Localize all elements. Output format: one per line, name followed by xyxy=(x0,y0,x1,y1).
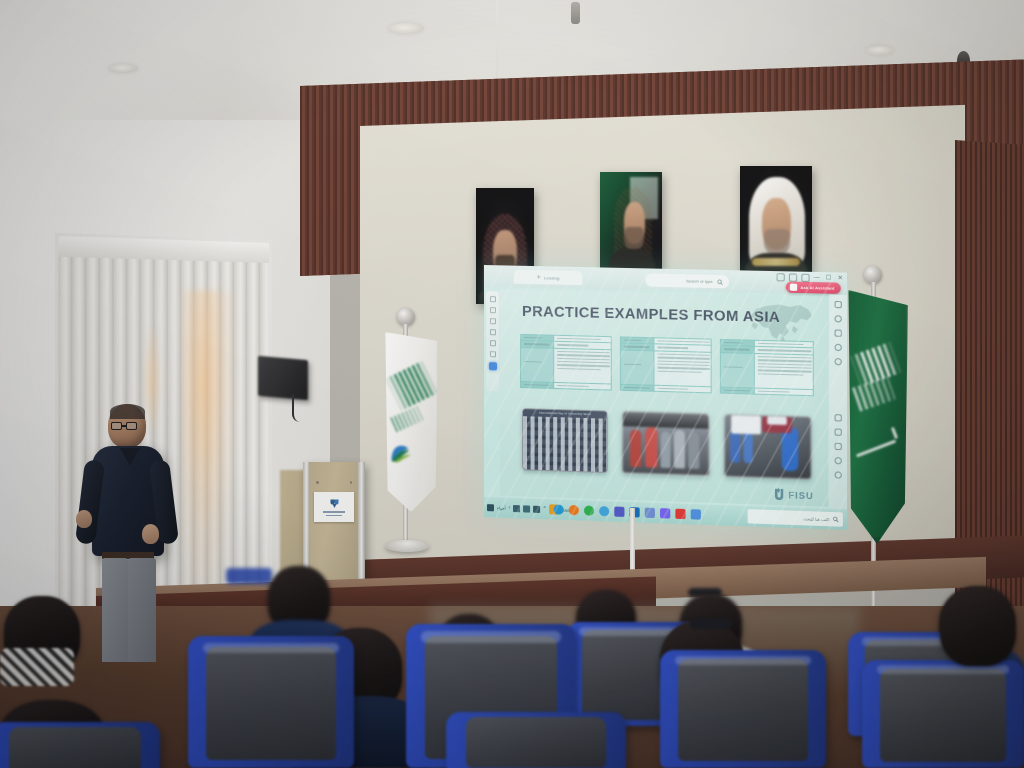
practice-example-table-3 xyxy=(720,339,814,396)
slide-photo-row: International Day of University Sport xyxy=(522,408,812,480)
table-value-cell xyxy=(654,385,711,392)
taskbar-apps[interactable] xyxy=(554,504,701,519)
zoom-level-icon[interactable] xyxy=(835,414,842,421)
presenter-glasses xyxy=(111,422,137,430)
pen-tool-icon[interactable] xyxy=(489,318,495,324)
search-icon xyxy=(832,516,838,522)
ask-ai-assistant-button[interactable]: Ask AI Assistant xyxy=(786,282,841,294)
plaque-text-line xyxy=(323,511,345,512)
bookmark-icon[interactable] xyxy=(835,344,842,351)
speaker-cable xyxy=(292,394,306,422)
taskbar-app-firefox[interactable] xyxy=(569,505,579,515)
slide-annotation-toolbar[interactable] xyxy=(486,291,499,391)
ask-ai-label: Ask AI Assistant xyxy=(800,285,834,291)
taskbar-app-skype[interactable] xyxy=(600,506,610,516)
taskbar-app-edge[interactable] xyxy=(554,504,564,514)
table-label-cell xyxy=(521,348,553,382)
screenshot-icon[interactable] xyxy=(835,301,842,308)
taskbar-app-zoom[interactable] xyxy=(691,509,701,519)
minimize-icon[interactable]: — xyxy=(813,275,819,281)
fisu-logo: FISU xyxy=(774,488,814,503)
cursor-tool-icon[interactable] xyxy=(489,296,495,302)
table-row xyxy=(721,353,812,389)
profile-icon[interactable] xyxy=(788,273,796,281)
audience-seat[interactable] xyxy=(446,712,626,768)
plus-icon[interactable] xyxy=(835,428,842,435)
presenter-leg-left xyxy=(102,558,128,662)
grid-tool-icon[interactable] xyxy=(489,340,495,346)
presenter-hand-left xyxy=(76,510,92,528)
college-flag-cloth xyxy=(382,332,438,512)
table-label-cell xyxy=(721,353,754,387)
taskbar-app-teams[interactable] xyxy=(615,507,625,517)
address-bar-placeholder: Search or type xyxy=(686,278,713,284)
zoom-in-tool-icon[interactable] xyxy=(489,307,495,313)
table-value-cell xyxy=(554,383,610,390)
taskbar-search-box[interactable]: اكتب هنا للبحث xyxy=(748,509,843,527)
ceiling-spotlight xyxy=(571,2,580,24)
table-row xyxy=(721,387,812,395)
table-label-cell xyxy=(721,340,754,346)
ai-sparkle-icon xyxy=(790,284,797,291)
close-icon[interactable]: ✕ xyxy=(838,275,843,281)
browser-address-bar[interactable]: Search or type xyxy=(645,273,729,288)
eraser-tool-icon[interactable] xyxy=(489,329,495,335)
audience-seat[interactable] xyxy=(862,660,1024,768)
table-label-cell xyxy=(621,337,653,343)
plaque-text-line xyxy=(326,515,342,516)
projected-desktop: + Loading Search or type — ☐ xyxy=(484,265,847,530)
history-icon[interactable] xyxy=(835,471,842,478)
audience-keffiyeh xyxy=(0,648,74,686)
podium-logo-plaque xyxy=(314,492,354,522)
audience-seat[interactable] xyxy=(660,650,826,768)
table-label-cell xyxy=(721,346,754,352)
start-icon[interactable] xyxy=(487,504,494,511)
fisu-mark-icon xyxy=(774,488,785,502)
new-tab-icon[interactable]: + xyxy=(537,274,541,281)
floor-object-blue xyxy=(226,568,272,584)
auditorium-scene: + Loading Search or type — ☐ xyxy=(0,0,1024,768)
photo-crowd-celebration xyxy=(622,411,709,476)
photo-event-booth xyxy=(724,414,812,480)
taskbar-search-placeholder: اكتب هنا للبحث xyxy=(803,516,829,522)
practice-example-table-1 xyxy=(520,334,611,391)
presenter-hair xyxy=(110,404,145,419)
weather-label: أجواء xyxy=(497,505,506,510)
table-label-cell xyxy=(621,384,653,390)
slide-table-row xyxy=(520,334,814,396)
college-flag-base xyxy=(385,540,429,552)
table-row xyxy=(621,384,711,392)
taskbar-app-explorer[interactable] xyxy=(645,508,655,518)
college-crest-icon xyxy=(329,498,340,509)
practice-example-table-2 xyxy=(620,336,712,393)
search-icon xyxy=(717,278,723,284)
glasses-lens-left xyxy=(111,422,122,430)
table-row xyxy=(621,350,711,386)
ceiling-downlight xyxy=(866,46,894,55)
ceiling-downlight xyxy=(388,23,424,34)
help-icon[interactable] xyxy=(835,358,842,365)
shapes-tool-icon[interactable] xyxy=(489,351,495,357)
table-label-cell xyxy=(721,387,754,393)
table-label-cell xyxy=(521,341,553,347)
extensions-icon[interactable] xyxy=(776,273,784,281)
audience-seat[interactable] xyxy=(0,722,160,768)
taskbar-app-chrome[interactable] xyxy=(584,505,594,515)
browser-side-toolbar[interactable] xyxy=(829,295,847,514)
ceiling-downlight xyxy=(108,64,138,73)
fisu-wordmark: FISU xyxy=(788,490,813,501)
table-label-cell xyxy=(521,382,553,388)
selected-tool-icon[interactable] xyxy=(488,362,496,370)
audience-seat[interactable] xyxy=(188,636,354,768)
glasses-lens-right xyxy=(126,422,137,430)
window-light-glow xyxy=(182,289,236,602)
audience-sunglasses-on-head xyxy=(690,618,732,629)
network-icon[interactable] xyxy=(513,505,520,512)
presenter-hand-right xyxy=(142,524,159,544)
minus-icon[interactable] xyxy=(835,443,842,450)
table-value-cell xyxy=(654,351,711,386)
volume-icon[interactable] xyxy=(523,505,530,512)
table-label-cell xyxy=(621,350,653,384)
menu-icon[interactable] xyxy=(801,274,809,282)
browser-tab[interactable]: + Loading xyxy=(514,270,582,286)
taskbar-app-pdf[interactable] xyxy=(676,509,686,519)
table-row xyxy=(521,348,610,383)
college-logo-icon xyxy=(382,423,419,481)
maximize-icon[interactable]: ☐ xyxy=(826,275,832,281)
presentation-slide: PRACTICE EXAMPLES FROM ASIA xyxy=(500,289,828,506)
saudi-flag-cloth xyxy=(846,290,908,544)
podium-screw xyxy=(350,481,353,484)
projection-screen: + Loading Search or type — ☐ xyxy=(484,265,847,530)
table-value-cell xyxy=(554,349,610,384)
table-label-cell xyxy=(621,344,653,350)
table-value-cell xyxy=(755,354,813,389)
table-value-cell xyxy=(755,388,813,395)
show-hidden-icon[interactable]: ^ xyxy=(543,506,545,512)
table-row xyxy=(521,382,610,390)
table-label-cell xyxy=(521,335,553,341)
copy-icon[interactable] xyxy=(835,329,842,336)
photo-grid-poster: International Day of University Sport xyxy=(522,408,608,473)
tray-chevron-icon[interactable]: ‹ xyxy=(509,505,511,511)
podium-screw xyxy=(316,481,319,484)
battery-icon[interactable] xyxy=(533,505,540,512)
taskbar-app-viber[interactable] xyxy=(660,508,670,518)
browser-tab-label: Loading xyxy=(544,275,560,280)
audience-head xyxy=(940,586,1016,666)
poster-participant-grid xyxy=(523,416,607,472)
refresh-icon[interactable] xyxy=(835,457,842,464)
presenter-leg-right xyxy=(128,558,156,662)
settings-icon[interactable] xyxy=(835,315,842,322)
presenter xyxy=(70,404,182,660)
